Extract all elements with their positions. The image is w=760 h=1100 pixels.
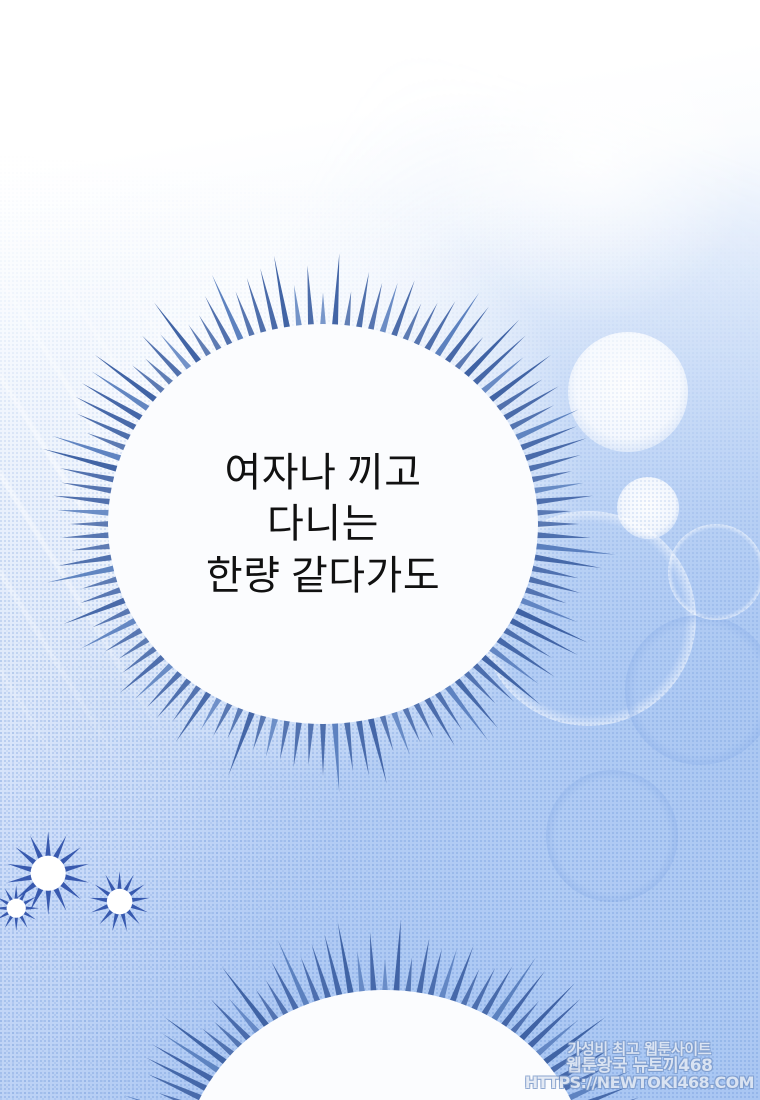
bokeh-far-right (668, 524, 760, 620)
comic-panel: 여자나 끼고 다니는 한량 같다가도 가성비 최고 웹툰사이트 웹툰왕국 뉴토끼… (0, 0, 760, 1100)
main-speech-balloon-text: 여자나 끼고 다니는 한량 같다가도 (0, 447, 648, 601)
secondary-speech-balloon (70, 880, 700, 1100)
main-speech-balloon: 여자나 끼고 다니는 한량 같다가도 (0, 214, 648, 834)
sparkle-small-icon (0, 883, 41, 933)
secondary-speech-balloon-shape (70, 880, 700, 1100)
secondary-speech-balloon-body (180, 990, 590, 1100)
